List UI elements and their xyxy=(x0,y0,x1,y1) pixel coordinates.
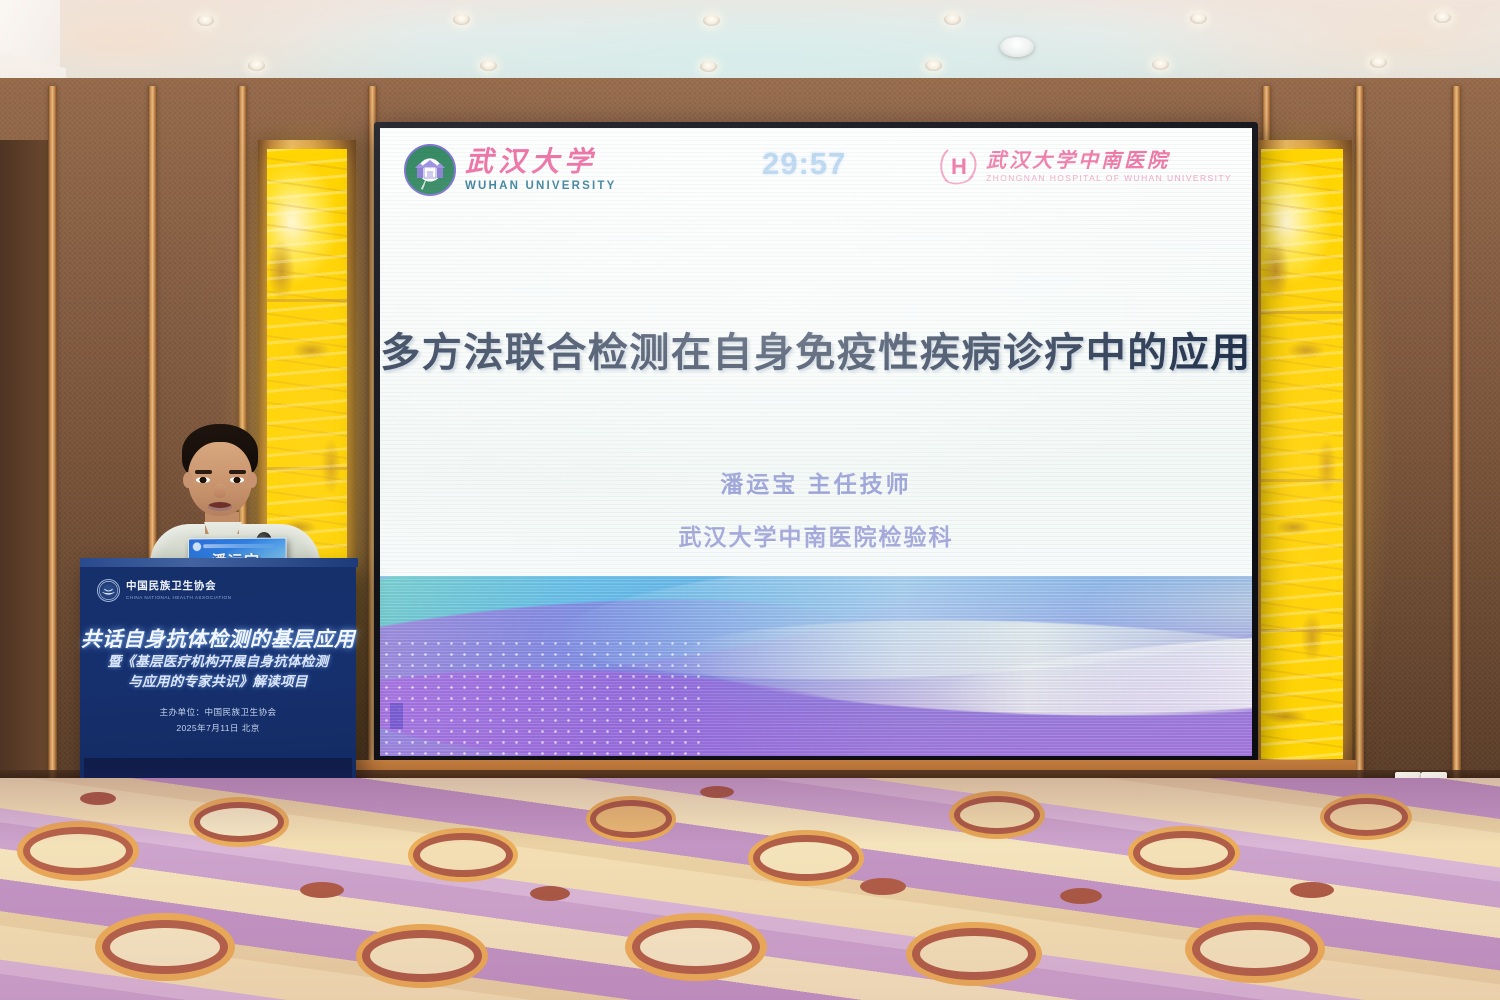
podium-meta: 主办单位：中国民族卫生协会 2025年7月11日 北京 xyxy=(80,704,356,737)
wuhan-university-chinese-name: 武汉大学 xyxy=(465,148,616,176)
downlight-icon xyxy=(703,15,720,26)
smoke-detector-icon xyxy=(1000,37,1034,57)
downlight-icon xyxy=(944,14,961,25)
slide-title: 多方法联合检测在自身免疫性疾病诊疗中的应用 xyxy=(380,320,1252,378)
association-logo: 中国民族卫生协会 CHINA NATIONAL HEALTH ASSOCIATI… xyxy=(97,579,231,602)
podium-headline: 共话自身抗体检测的基层应用 xyxy=(80,622,356,652)
association-chinese-name: 中国民族卫生协会 xyxy=(126,581,231,593)
downlight-icon xyxy=(480,60,497,71)
wuhan-university-logo: 武汉大学 WUHAN UNIVERSITY xyxy=(404,144,616,196)
slide-affiliation: 武汉大学中南医院检验科 xyxy=(380,518,1252,552)
wuhan-university-english-name: WUHAN UNIVERSITY xyxy=(465,180,616,192)
zhongnan-hospital-h-icon: H xyxy=(939,146,979,186)
wall-trim xyxy=(48,86,57,786)
downlight-icon xyxy=(925,60,942,71)
downlight-icon xyxy=(700,61,717,72)
led-screen[interactable]: 武汉大学 WUHAN UNIVERSITY 29:57 H 武汉大学中 xyxy=(374,122,1258,762)
downlight-icon xyxy=(1190,13,1207,24)
svg-text:H: H xyxy=(951,154,967,179)
wall-left-recess xyxy=(0,140,48,784)
podium-subheadline-line1: 暨《基层医疗机构开展自身抗体检测 xyxy=(80,652,356,672)
zhongnan-hospital-logo: H 武汉大学中南医院 ZHONGNAN HOSPITAL OF WUHAN UN… xyxy=(939,146,1232,186)
wall-trim xyxy=(1355,86,1364,786)
podium-top-edge xyxy=(80,558,358,567)
slide-presenter: 潘运宝 主任技师 xyxy=(380,465,1252,499)
zhongnan-hospital-english-name: ZHONGNAN HOSPITAL OF WUHAN UNIVERSITY xyxy=(986,173,1232,183)
conference-hall-photo: 武汉大学 WUHAN UNIVERSITY 29:57 H 武汉大学中 xyxy=(0,0,1500,1000)
wall-trim xyxy=(1452,86,1461,786)
podium-date-location: 2025年7月11日 北京 xyxy=(80,720,356,736)
downlight-icon xyxy=(1370,57,1387,68)
podium-organizer: 主办单位：中国民族卫生协会 xyxy=(80,704,356,720)
zhongnan-hospital-chinese-name: 武汉大学中南医院 xyxy=(986,150,1232,170)
downlight-icon xyxy=(453,14,470,25)
slide-wave-graphic xyxy=(380,576,1252,756)
floor xyxy=(0,778,1500,1000)
downlight-icon xyxy=(197,15,214,26)
carpet xyxy=(0,778,1500,1000)
wuhan-university-seal-icon xyxy=(404,144,456,196)
countdown-timer: 29:57 xyxy=(762,146,846,182)
backlit-onyx-panel-right xyxy=(1252,140,1352,768)
podium-subheadline-line2: 与应用的专家共识》解读项目 xyxy=(80,672,356,692)
association-english-name: CHINA NATIONAL HEALTH ASSOCIATION xyxy=(126,595,231,600)
ceiling xyxy=(0,0,1500,86)
presentation-slide: 武汉大学 WUHAN UNIVERSITY 29:57 H 武汉大学中 xyxy=(380,128,1252,756)
podium-subheadline: 暨《基层医疗机构开展自身抗体检测 与应用的专家共识》解读项目 xyxy=(80,652,356,691)
china-national-health-association-icon xyxy=(97,579,120,602)
downlight-icon xyxy=(248,60,265,71)
downlight-icon xyxy=(1434,12,1451,23)
downlight-icon xyxy=(1152,59,1169,70)
